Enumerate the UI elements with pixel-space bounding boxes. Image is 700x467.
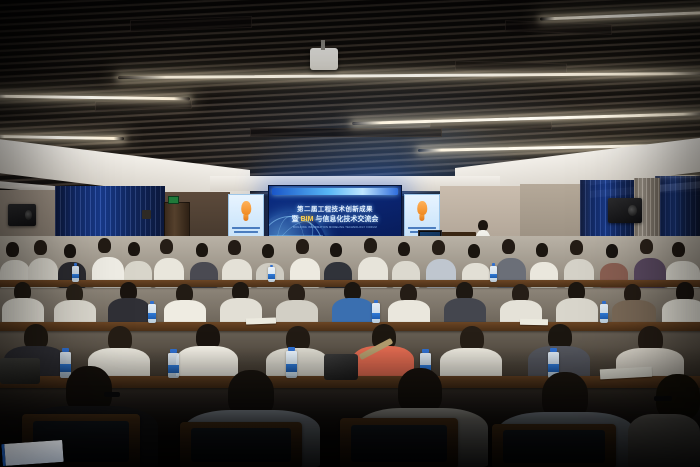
attendee-head (502, 239, 515, 254)
wall-fixture (142, 210, 151, 219)
projector-mount (321, 40, 325, 50)
attendee-head (364, 238, 377, 253)
audience-seating (0, 236, 700, 467)
rocket-emblem-right (417, 201, 427, 216)
foreground-shadow (0, 347, 700, 467)
banner-right-line1 (408, 227, 437, 229)
bottle-label (372, 313, 380, 319)
bottle-cap (492, 263, 496, 266)
banner-left-line2 (234, 231, 258, 233)
bottle-label (490, 274, 497, 279)
attendee-head (640, 239, 653, 254)
wall-mounted-loudspeaker-right (608, 198, 642, 223)
attendee-head (432, 240, 445, 255)
screen-title-line1: 第二届工程技术创新成果 (269, 203, 401, 213)
exit-sign-icon (168, 196, 179, 204)
conference-hall-photo: BIM 第二届工程技术创新成果 暨 BIM 与信息化技术交流会 BUILDING… (0, 0, 700, 467)
bottle-label (268, 274, 275, 279)
water-bottle (268, 267, 275, 282)
attendee-head (570, 240, 583, 255)
ceiling-vent-5 (250, 128, 442, 137)
attendee-head (98, 238, 111, 253)
ceiling-projector (310, 48, 338, 70)
water-bottle (490, 266, 497, 282)
bottle-cap (150, 301, 154, 304)
bottle-cap (374, 300, 378, 303)
audience-row-b (0, 282, 700, 326)
bottle-label (72, 274, 79, 279)
screen-title-brand: BIM (301, 216, 314, 223)
screen-title-prefix: 暨 (292, 216, 301, 223)
banner-left-line1 (232, 227, 261, 229)
screen-subtitle: BUILDING INFORMATION MODELING TECHNOLOGY… (269, 226, 401, 229)
blue-white-handout[interactable] (1, 440, 63, 466)
water-bottle (72, 266, 79, 282)
screen-title-line2: 暨 BIM 与信息化技术交流会 (269, 214, 401, 224)
attendee-head (228, 240, 241, 255)
water-bottle (148, 304, 156, 323)
water-bottle (600, 304, 608, 323)
screen-title-suffix: 与信息化技术交流会 (313, 216, 378, 223)
screen-top-bar (272, 188, 399, 195)
speaker-cone-left (25, 210, 32, 220)
speaker-cone-right (628, 205, 637, 217)
attendee-head (34, 240, 47, 255)
bottle-label (600, 313, 608, 319)
bottle-cap (74, 263, 78, 266)
bottle-cap (602, 301, 606, 304)
bottle-label (148, 313, 156, 319)
attendee-head (160, 239, 173, 254)
rocket-emblem-left (241, 201, 251, 216)
wall-mounted-loudspeaker-left (8, 204, 36, 226)
water-bottle (372, 303, 380, 323)
bottle-cap (270, 265, 274, 268)
attendee-head (296, 239, 309, 254)
